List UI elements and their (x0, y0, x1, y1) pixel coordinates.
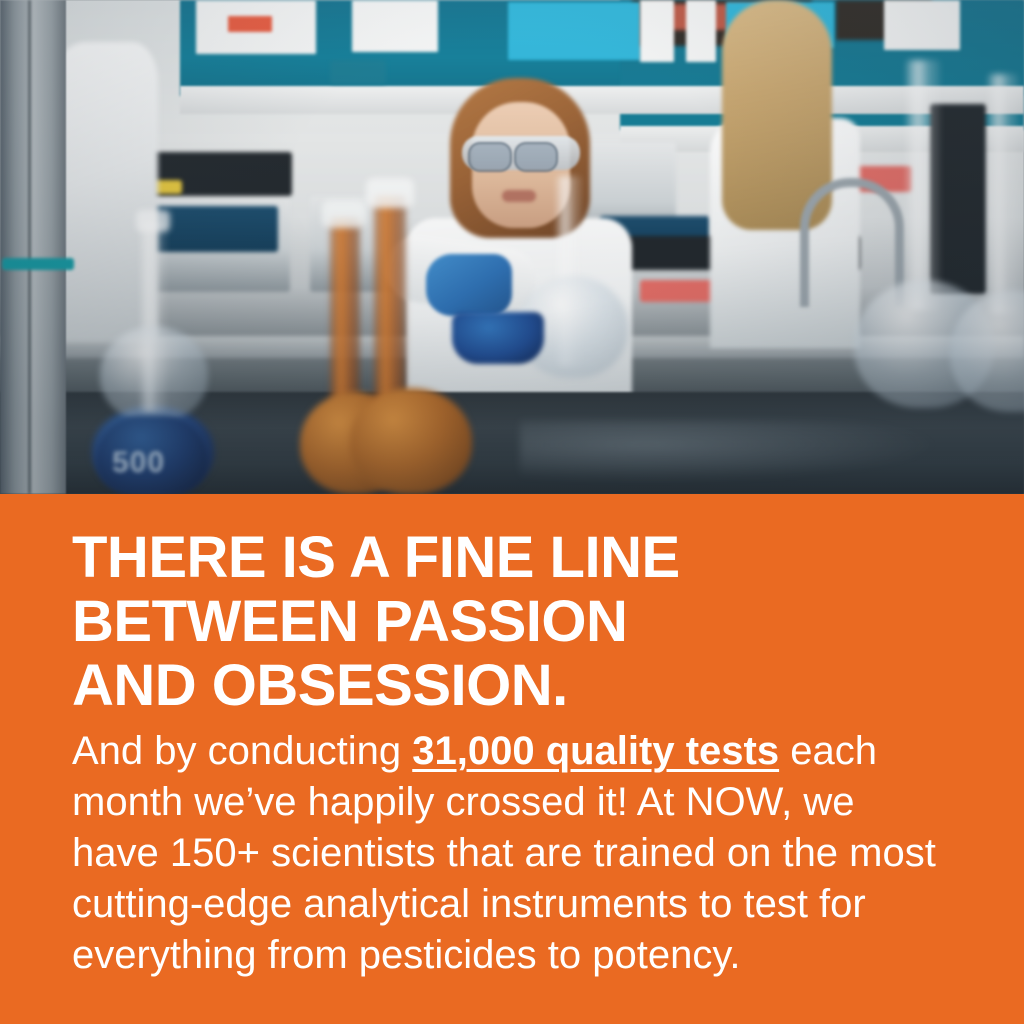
shelf-box-red-tab (228, 16, 272, 32)
clear-flask-neck-right-1 (906, 60, 940, 310)
amber-flask-stopper-2 (366, 178, 414, 208)
body-highlight-quality-tests: 31,000 quality tests (412, 729, 779, 773)
goggle-lens-left (468, 142, 512, 172)
clear-flask-neck-right-2 (988, 74, 1018, 314)
flask-stopper-left (136, 210, 170, 232)
amber-flask-bulb-2 (350, 388, 472, 494)
flask-500-label: 500 (112, 446, 186, 480)
instrument-teal-accent (330, 60, 386, 84)
shelf-box-blue-1 (508, 2, 640, 60)
social-card: 500 There is a fine line between passion… (0, 0, 1024, 1024)
pillar-seam (28, 0, 31, 494)
lab-photo: 500 (0, 0, 1024, 494)
scientist-right (690, 0, 860, 340)
grey-pillar (0, 0, 66, 494)
headline-line-2: between passion (72, 590, 952, 654)
body-part-1: And by conducting (72, 729, 412, 773)
mouth (502, 190, 536, 202)
blue-nitrile-glove (426, 254, 512, 316)
shelf-box-white-5 (884, 0, 960, 50)
headline-line-1: There is a fine line (72, 526, 952, 590)
body-copy: And by conducting 31,000 quality tests e… (72, 726, 952, 981)
bench-reflection (520, 420, 940, 482)
shelf-box-white-1 (352, 0, 438, 52)
orange-text-panel: There is a fine line between passion and… (0, 494, 1024, 1024)
pillar-teal-accent (2, 258, 74, 270)
headline: There is a fine line between passion and… (72, 526, 952, 718)
headline-line-3: and obsession. (72, 654, 952, 718)
erlenmeyer-blue-liquid (452, 312, 544, 364)
goggle-lens-right (514, 142, 558, 172)
shelf-box-white-3 (640, 0, 674, 62)
foreground-flask-bulb-left (100, 326, 208, 422)
amber-flask-stopper-1 (322, 200, 366, 228)
